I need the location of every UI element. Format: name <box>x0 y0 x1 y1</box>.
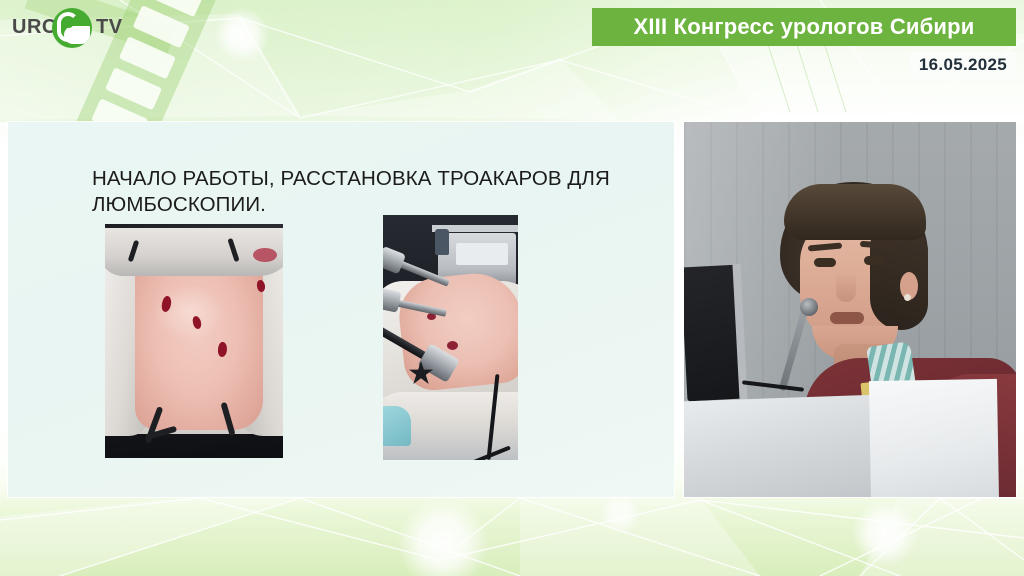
background-glow <box>600 494 640 534</box>
slide-title: НАЧАЛО РАБОТЫ, РАССТАНОВКА ТРОАКАРОВ ДЛЯ… <box>92 166 632 218</box>
date-text: 16.05.2025 <box>919 55 1007 74</box>
logo-text-tv: TV <box>96 16 123 39</box>
congress-title-text: XIII Конгресс урологов Сибири <box>633 14 974 40</box>
presentation-slide[interactable]: НАЧАЛО РАБОТЫ, РАССТАНОВКА ТРОАКАРОВ ДЛЯ… <box>8 122 674 497</box>
broadcast-stage: URO TV XIII Конгресс урологов Сибири 16.… <box>0 0 1024 576</box>
inserted-trocars-photo <box>383 215 518 460</box>
date-badge: 16.05.2025 <box>910 52 1016 79</box>
background-glow <box>215 8 269 62</box>
trocar-port-sites-photo <box>105 224 283 458</box>
urotv-logo[interactable]: URO TV <box>10 6 128 48</box>
congress-title-banner: XIII Конгресс урологов Сибири <box>592 8 1016 46</box>
background-glow <box>852 500 918 566</box>
speaker-video-feed[interactable] <box>684 122 1016 497</box>
logo-mark-icon <box>52 8 92 48</box>
